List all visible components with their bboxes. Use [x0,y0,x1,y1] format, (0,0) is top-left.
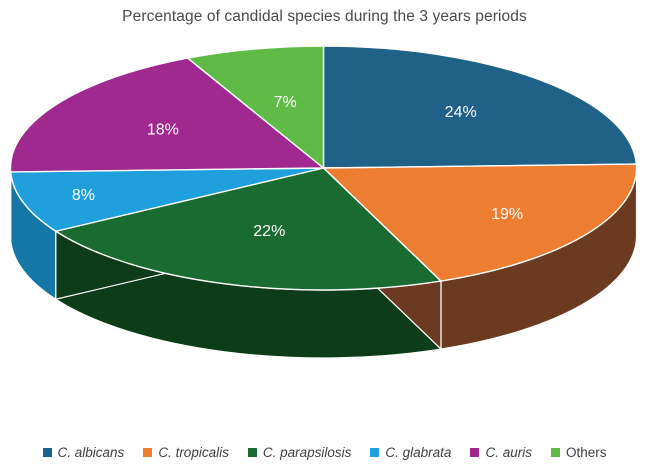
legend-item-label: C. parapsilosis [263,445,352,460]
legend-item-label: C. albicans [58,445,125,460]
pie-slice-value-label: 24% [445,104,477,121]
pie-slice-value-label: 7% [274,94,297,111]
legend-swatch-icon [143,448,152,457]
legend-item-label: C. auris [485,445,532,460]
legend-item-c-auris[interactable]: C. auris [470,445,532,460]
legend-swatch-icon [551,448,560,457]
legend-item-others[interactable]: Others [551,445,607,460]
legend-item-c-tropicalis[interactable]: C. tropicalis [143,445,229,460]
pie-chart-canvas: 24%19%22%8%18%7% [0,0,649,468]
legend-item-c-parapsilosis[interactable]: C. parapsilosis [248,445,352,460]
legend-swatch-icon [248,448,257,457]
legend-item-label: Others [566,445,607,460]
legend-swatch-icon [470,448,479,457]
pie-slice-c-albicans[interactable] [324,46,637,168]
legend-item-c-glabrata[interactable]: C. glabrata [370,445,451,460]
legend-swatch-icon [370,448,379,457]
legend-item-c-albicans[interactable]: C. albicans [43,445,125,460]
legend-item-label: C. tropicalis [158,445,229,460]
pie-slice-value-label: 8% [72,187,95,204]
legend-item-label: C. glabrata [385,445,451,460]
legend-swatch-icon [43,448,52,457]
pie-chart-figure: Percentage of candidal species during th… [0,0,649,468]
pie-slice-value-label: 19% [491,206,523,223]
pie-slices [11,46,637,290]
pie-slice-value-label: 18% [147,121,179,138]
pie-slice-value-label: 22% [253,223,285,240]
chart-legend: C. albicansC. tropicalisC. parapsilosisC… [0,440,649,464]
